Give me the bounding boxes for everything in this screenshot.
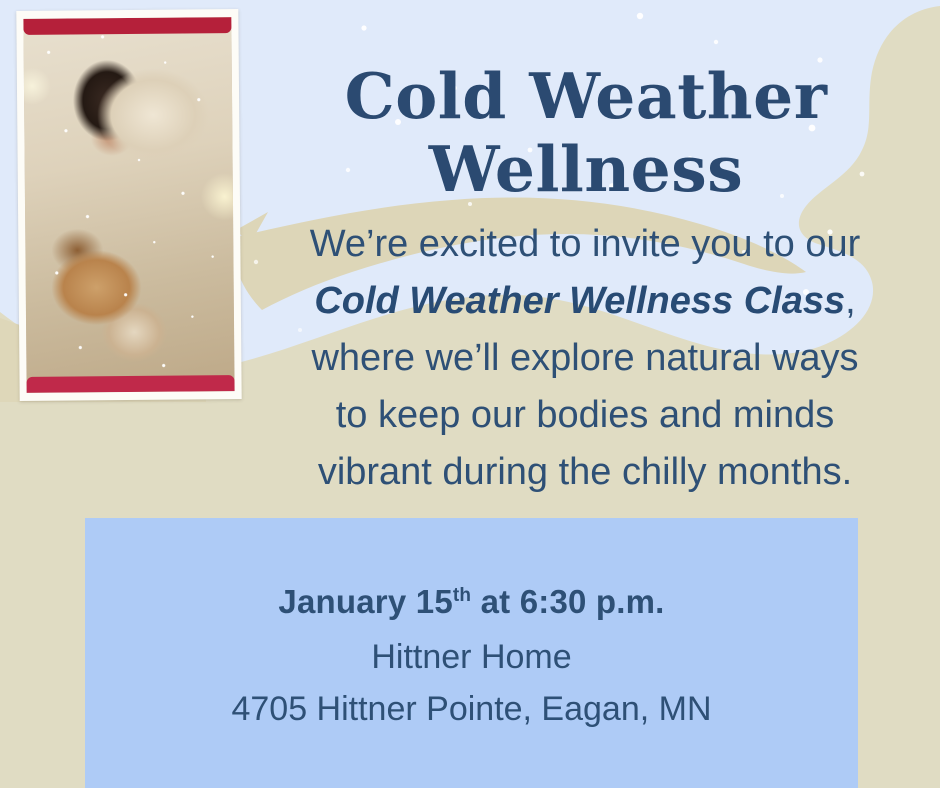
event-details-text: January 15th at 6:30 p.m. Hittner Home 4… (85, 518, 858, 730)
photo-image (23, 17, 234, 393)
body-copy: We’re excited to invite you to our Cold … (240, 216, 930, 501)
title-line-2: Wellness (248, 133, 924, 206)
class-name-emphasis: Cold Weather Wellness Class (314, 280, 845, 322)
body-line-5: vibrant during the chilly months. (240, 444, 930, 501)
event-time: at 6:30 p.m. (471, 583, 664, 620)
event-details-panel: January 15th at 6:30 p.m. Hittner Home 4… (85, 518, 858, 788)
title-line-1: Cold Weather (248, 60, 924, 133)
body-line-2-tail: , (845, 280, 856, 322)
date-ordinal-suffix: th (453, 585, 471, 606)
event-address: 4705 Hittner Pointe, Eagan, MN (85, 688, 858, 730)
event-date: January 15 (278, 583, 452, 620)
event-datetime: January 15th at 6:30 p.m. (85, 582, 858, 622)
body-line-2: Cold Weather Wellness Class, (240, 273, 930, 330)
photo-snow-overlay (23, 17, 234, 393)
event-venue: Hittner Home (85, 636, 858, 678)
body-line-3: where we’ll explore natural ways (240, 330, 930, 387)
body-line-1: We’re excited to invite you to our (240, 216, 930, 273)
flyer-canvas: Cold Weather Wellness We’re excited to i… (0, 0, 940, 788)
page-title: Cold Weather Wellness (248, 60, 924, 206)
photo-card (16, 9, 241, 401)
body-line-4: to keep our bodies and minds (240, 387, 930, 444)
